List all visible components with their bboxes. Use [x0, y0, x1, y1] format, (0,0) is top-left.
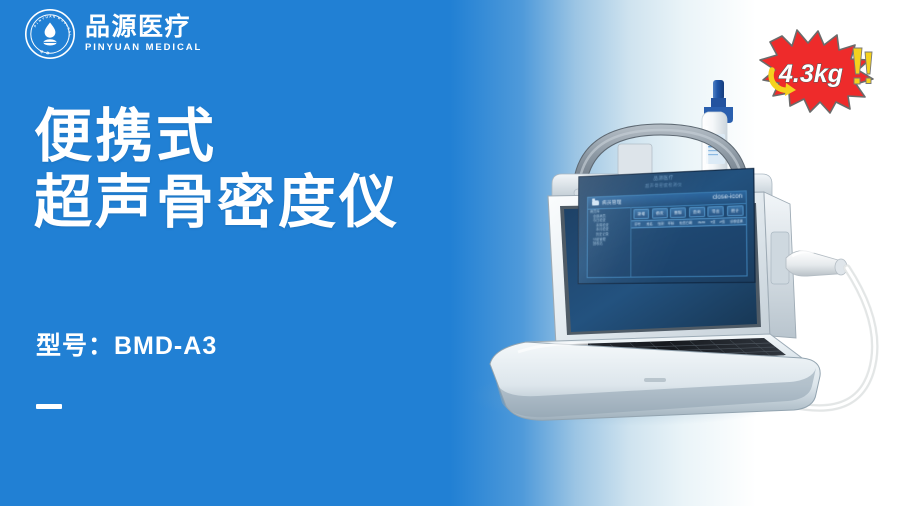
tree-item[interactable]: 历史记录 — [590, 233, 628, 237]
table-header-cell: BMD — [696, 219, 709, 226]
records-grid[interactable] — [631, 225, 746, 276]
toolbar-button[interactable]: 统计 — [727, 205, 744, 216]
table-header-cell: 检查日期 — [676, 219, 695, 226]
records-pane: 新增 修改 删除 查询 导出 统计 序号 姓名 性别 年龄 检查日期 BMD — [631, 203, 746, 277]
svg-text:品: 品 — [39, 49, 45, 55]
table-header-cell: 年龄 — [666, 220, 676, 226]
table-header-cell: 序号 — [631, 221, 643, 227]
patient-management-window: 病员管理 close-icon 病员库 全部病员 今日检查 本周检查 本月检查 … — [587, 190, 748, 278]
table-header-cell: 姓名 — [644, 221, 656, 228]
toolbar-button[interactable]: 新增 — [633, 209, 649, 219]
poster-canvas: P I N Y U A N M E D I C A L 品 源 — [0, 0, 900, 506]
toolbar-button[interactable]: 导出 — [707, 206, 724, 217]
ultrasound-probe — [786, 251, 847, 276]
window-title: 病员管理 — [602, 199, 622, 206]
device-screen: 品源医疗 超声骨密度检测仪 病员管理 close-icon 病员库 全部病员 今… — [578, 168, 756, 284]
brand-logo: P I N Y U A N M E D I C A L 品 源 — [24, 8, 202, 60]
folder-icon — [592, 200, 599, 206]
headline-line-1: 便携式 — [34, 104, 400, 170]
brand-name-en: PINYUAN MEDICAL — [85, 42, 202, 53]
tree-item[interactable]: 回收站 — [590, 242, 628, 246]
toolbar-button[interactable]: 修改 — [652, 208, 668, 218]
headline: 便携式 超声骨密度仪 — [34, 104, 400, 236]
close-icon[interactable]: close-icon — [713, 194, 743, 201]
tree-item[interactable]: 今日检查 — [590, 219, 628, 223]
decorative-divider — [36, 404, 62, 409]
headline-line-2: 超声骨密度仪 — [34, 170, 400, 236]
table-header-cell: Z值 — [718, 218, 727, 225]
model-label: 型号：BMD-A3 — [36, 326, 217, 362]
svg-text:L: L — [68, 34, 72, 37]
window-body: 病员库 全部病员 今日检查 本周检查 本月检查 历史记录 分组管理 回收站 新增… — [588, 203, 747, 277]
table-header-cell: 性别 — [656, 220, 666, 226]
patient-tree[interactable]: 病员库 全部病员 今日检查 本周检查 本月检查 历史记录 分组管理 回收站 — [588, 207, 632, 277]
toolbar-button[interactable]: 查询 — [689, 207, 706, 217]
brand-name-cn: 品源医疗 — [85, 14, 202, 40]
table-header-cell: T值 — [708, 219, 717, 226]
brand-wordmark: 品源医疗 PINYUAN MEDICAL — [85, 14, 202, 54]
svg-text:源: 源 — [46, 50, 50, 56]
seal-emblem-icon: P I N Y U A N M E D I C A L 品 源 — [24, 8, 76, 60]
table-header-cell: 诊断结果 — [727, 218, 746, 225]
toolbar-button[interactable]: 删除 — [670, 207, 686, 217]
